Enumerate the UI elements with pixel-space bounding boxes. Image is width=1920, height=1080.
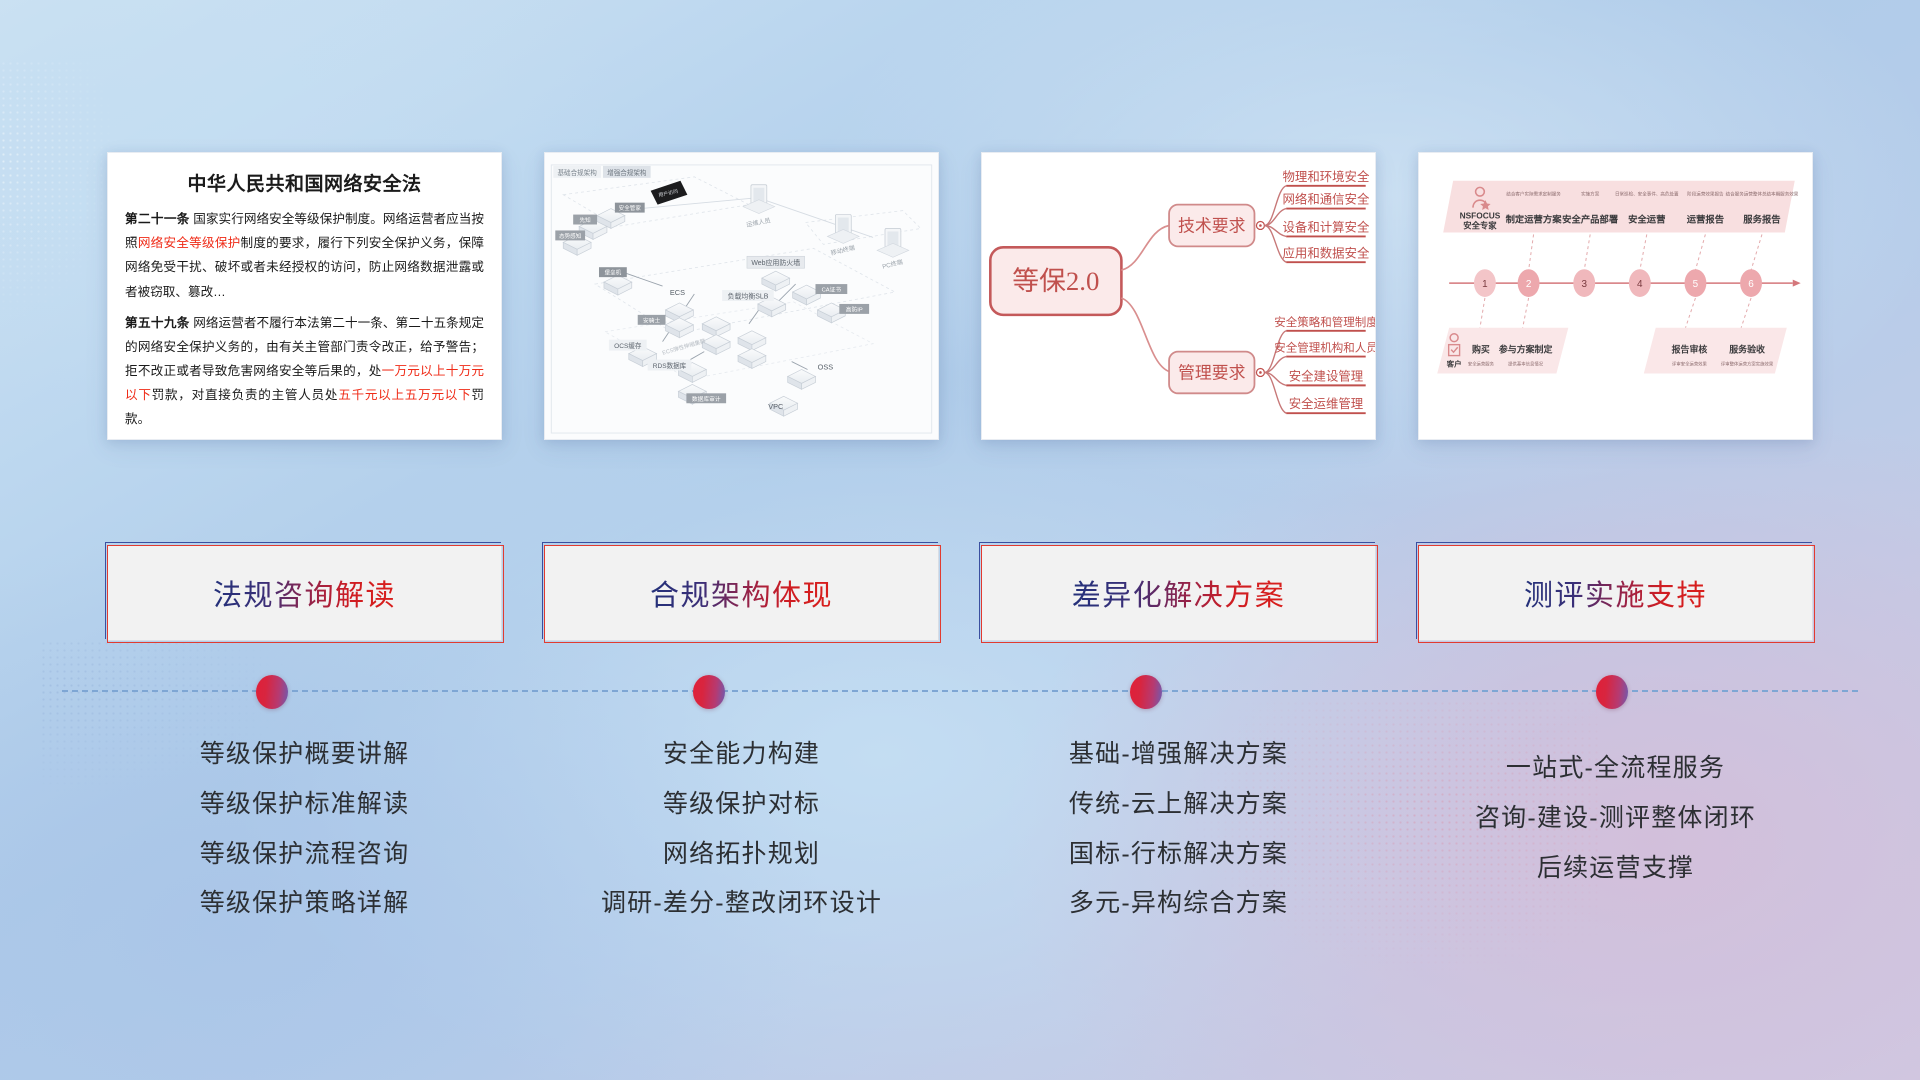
- timeline-dot-2: [693, 675, 725, 709]
- nsfocus-top-title-3: 安全运营: [1628, 214, 1665, 225]
- nsfocus-step-3-num: 3: [1581, 279, 1587, 290]
- detail-list-3: 基础-增强解决方案 传统-云上解决方案 国标-行标解决方案 多元-异构综合方案: [981, 735, 1376, 923]
- nsfocus-bottom-caption-2: 提供基本信息情况: [1508, 361, 1544, 368]
- card-mindmap[interactable]: 等保2.0 技术要求 物理和环境安全 网络和通信安全: [981, 152, 1376, 440]
- nsfocus-step-6-num: 6: [1748, 279, 1754, 290]
- nsfocus-step-2-num: 2: [1526, 279, 1532, 290]
- detail-lists-row: 等级保护概要讲解 等级保护标准解读 等级保护流程咨询 等级保护策略详解 安全能力…: [0, 735, 1920, 923]
- headline-boxes-row: 法规咨询解读 合规架构体现 差异化解决方案 测评实施支持: [0, 545, 1920, 641]
- detail-list-4: 一站式-全流程服务 咨询-建设-测评整体闭环 后续运营支撑: [1418, 735, 1813, 923]
- timeline-dot-1: [256, 675, 288, 709]
- law-title: 中华人民共和国网络安全法: [125, 169, 484, 196]
- svg-text:CA证书: CA证书: [822, 286, 842, 294]
- mindmap-leaf-tech-3: 设备和计算安全: [1283, 219, 1370, 234]
- mindmap-root-label: 等保2.0: [1012, 266, 1099, 296]
- card-nsfocus-timeline[interactable]: NSFOCUS 安全专家 结合客户实际需求定制服务 制定运营方案 实施方案 安全…: [1418, 152, 1813, 440]
- svg-text:负载均衡SLB: 负载均衡SLB: [728, 291, 769, 300]
- nsfocus-top-title-4: 运营报告: [1687, 214, 1724, 225]
- svg-text:安骑士: 安骑士: [643, 316, 660, 324]
- nsfocus-top-caption-2: 实施方案: [1581, 191, 1600, 198]
- mindmap-branch-tech-label: 技术要求: [1178, 216, 1246, 235]
- headline-box-1-label: 法规咨询解读: [213, 572, 396, 614]
- mindmap-leaf-mgmt-1: 安全策略和管理制度: [1274, 315, 1375, 329]
- headline-box-1[interactable]: 法规咨询解读: [107, 545, 502, 641]
- mindmap-leaf-mgmt-2: 安全管理机构和人员: [1274, 341, 1375, 355]
- nsfocus-step-5-num: 5: [1693, 279, 1699, 290]
- nsfocus-top-caption-1: 结合客户实际需求定制服务: [1506, 191, 1561, 198]
- list-item: 基础-增强解决方案: [1069, 735, 1288, 774]
- nsfocus-actor-line2: 安全专家: [1463, 220, 1497, 230]
- headline-box-3[interactable]: 差异化解决方案: [981, 545, 1376, 641]
- mindmap-canvas: 等保2.0 技术要求 物理和环境安全 网络和通信安全: [982, 153, 1375, 439]
- mindmap-svg: 等保2.0 技术要求 物理和环境安全 网络和通信安全: [982, 153, 1375, 439]
- nsfocus-svg: NSFOCUS 安全专家 结合客户实际需求定制服务 制定运营方案 实施方案 安全…: [1419, 153, 1812, 439]
- nsfocus-top-caption-4: 阶段运营效果报告: [1687, 191, 1724, 198]
- detail-list-2: 安全能力构建 等级保护对标 网络拓扑规划 调研-差分-整改闭环设计: [544, 735, 939, 923]
- list-item: 咨询-建设-测评整体闭环: [1475, 799, 1756, 838]
- svg-text:态势感知: 态势感知: [559, 232, 582, 240]
- preview-cards-row: 中华人民共和国网络安全法 第二十一条 国家实行网络安全等级保护制度。网络运营者应…: [0, 152, 1920, 440]
- svg-text:安全管家: 安全管家: [619, 204, 642, 212]
- list-item: 网络拓扑规划: [663, 835, 820, 874]
- nsfocus-top-caption-3: 日常巡检、安全事件、高危处置: [1615, 191, 1679, 198]
- mindmap-branch-mgmt-label: 管理要求: [1178, 363, 1246, 382]
- nsfocus-bottom-actor: 客户: [1446, 359, 1462, 369]
- law-article-59-number: 第五十九条: [125, 316, 190, 330]
- nsfocus-canvas: NSFOCUS 安全专家 结合客户实际需求定制服务 制定运营方案 实施方案 安全…: [1419, 153, 1812, 439]
- mindmap-leaf-tech-1: 物理和环境安全: [1283, 169, 1370, 184]
- law-article-59-seg2: 罚款，对直接负责的主管人员处: [152, 388, 339, 402]
- nsfocus-top-title-5: 服务报告: [1743, 214, 1780, 225]
- mindmap-leaf-tech-4: 应用和数据安全: [1283, 245, 1370, 260]
- law-article-59-seg3: 五千元以上五万元以下: [338, 388, 471, 402]
- arch-node-vpc: VPC: [768, 402, 784, 411]
- list-item: 等级保护策略详解: [200, 884, 410, 923]
- nsfocus-actor-line1: NSFOCUS: [1460, 211, 1501, 221]
- list-item: 安全能力构建: [663, 735, 820, 774]
- law-article-21-number: 第二十一条: [125, 212, 190, 226]
- headline-box-2[interactable]: 合规架构体现: [544, 545, 939, 641]
- headline-box-4[interactable]: 测评实施支持: [1418, 545, 1813, 641]
- list-item: 调研-差分-整改闭环设计: [601, 884, 882, 923]
- law-content: 中华人民共和国网络安全法 第二十一条 国家实行网络安全等级保护制度。网络运营者应…: [108, 153, 501, 440]
- svg-text:Web应用防火墙: Web应用防火墙: [751, 258, 800, 267]
- list-item: 等级保护流程咨询: [200, 835, 410, 874]
- svg-text:先知: 先知: [580, 216, 592, 224]
- headline-box-2-label: 合规架构体现: [650, 572, 833, 614]
- list-item: 等级保护标准解读: [200, 785, 410, 824]
- mindmap-leaf-mgmt-3: 安全建设管理: [1289, 368, 1363, 383]
- nsfocus-bottom-caption-1: 安全运营服务: [1468, 361, 1495, 368]
- timeline-dashed-line: [62, 690, 1858, 694]
- arch-tab-enhanced-label: 增强合规架构: [607, 168, 647, 177]
- svg-text:OCS缓存: OCS缓存: [614, 341, 642, 350]
- card-architecture-diagram[interactable]: 基础合规架构 增强合规架构 用户访问: [544, 152, 939, 440]
- svg-text:RDS数据库: RDS数据库: [653, 361, 687, 370]
- list-item: 多元-异构综合方案: [1069, 884, 1288, 923]
- nsfocus-bottom-title-3: 报告审核: [1672, 344, 1708, 355]
- nsfocus-bottom-title-2: 参与方案制定: [1499, 344, 1553, 355]
- nsfocus-bottom-title-1: 购买: [1472, 344, 1490, 355]
- headline-box-4-label: 测评实施支持: [1524, 572, 1707, 614]
- list-item: 后续运营支撑: [1537, 849, 1694, 888]
- nsfocus-step-1-num: 1: [1482, 279, 1488, 290]
- arch-tab-basic-label: 基础合规架构: [558, 168, 598, 177]
- architecture-svg: 基础合规架构 增强合规架构 用户访问: [545, 153, 938, 439]
- nsfocus-bottom-lane-2: [1644, 328, 1787, 374]
- list-item: 传统-云上解决方案: [1069, 785, 1288, 824]
- mindmap-leaf-tech-2: 网络和通信安全: [1283, 192, 1370, 207]
- nsfocus-bottom-caption-3: 评审安全运营效果: [1672, 361, 1708, 368]
- card-law-text[interactable]: 中华人民共和国网络安全法 第二十一条 国家实行网络安全等级保护制度。网络运营者应…: [107, 152, 502, 440]
- arch-node-ecs: ECS: [670, 288, 685, 297]
- nsfocus-top-title-1: 制定运营方案: [1506, 214, 1563, 225]
- architecture-canvas: 基础合规架构 增强合规架构 用户访问: [545, 153, 938, 439]
- headline-box-3-label: 差异化解决方案: [1072, 572, 1286, 614]
- svg-text:堡垒机: 堡垒机: [605, 269, 622, 277]
- timeline-dot-4: [1596, 675, 1628, 709]
- timeline-dot-3: [1130, 675, 1162, 709]
- list-item: 国标-行标解决方案: [1069, 835, 1288, 874]
- mindmap-leaf-mgmt-4: 安全运维管理: [1289, 396, 1363, 411]
- law-article-21: 第二十一条 国家实行网络安全等级保护制度。网络运营者应当按照网络安全等级保护制度…: [125, 207, 484, 304]
- nsfocus-bottom-title-4: 服务验收: [1729, 344, 1765, 355]
- svg-text:数据库审计: 数据库审计: [692, 395, 721, 403]
- svg-text:高防IP: 高防IP: [846, 305, 863, 313]
- nsfocus-bottom-caption-4: 评审整体运营方案实施效果: [1721, 361, 1774, 368]
- nsfocus-top-title-2: 安全产品部署: [1562, 214, 1619, 225]
- list-item: 等级保护对标: [663, 785, 820, 824]
- law-article-21-seg1: 网络安全等级保护: [138, 236, 241, 250]
- detail-list-1: 等级保护概要讲解 等级保护标准解读 等级保护流程咨询 等级保护策略详解: [107, 735, 502, 923]
- list-item: 等级保护概要讲解: [200, 735, 410, 774]
- nsfocus-top-caption-5: 结合服务运营整体总结本期服务效果: [1726, 191, 1799, 198]
- nsfocus-step-4-num: 4: [1637, 279, 1643, 290]
- arch-node-oss: OSS: [818, 362, 834, 371]
- law-article-59: 第五十九条 网络运营者不履行本法第二十一条、第二十五条规定的网络安全保护义务的，…: [125, 311, 484, 432]
- list-item: 一站式-全流程服务: [1506, 749, 1725, 788]
